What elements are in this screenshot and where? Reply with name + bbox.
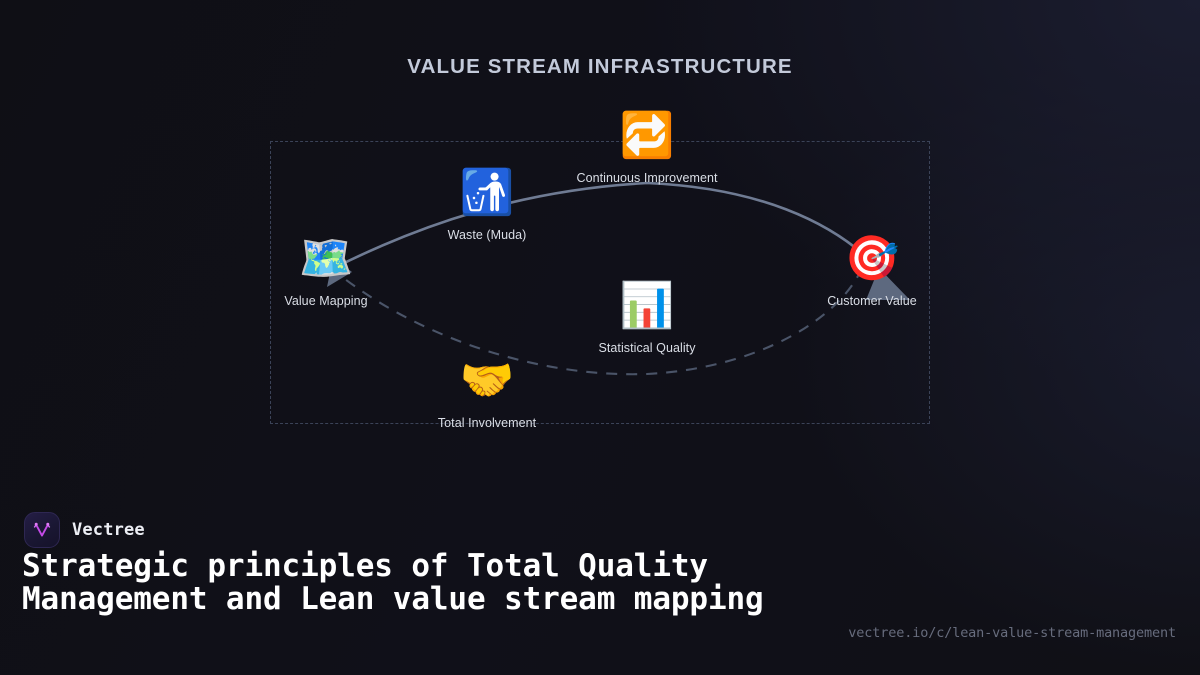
brand-name: Vectree xyxy=(72,520,145,540)
repeat-arrows-icon: 🔁 xyxy=(572,114,722,162)
node-label-customer-value: Customer Value xyxy=(797,294,947,308)
litter-bin-icon: 🚮 xyxy=(412,171,562,219)
brand-row[interactable]: Vectree xyxy=(24,512,145,548)
source-url[interactable]: vectree.io/c/lean-value-stream-managemen… xyxy=(848,625,1176,641)
footer-region: Vectree Strategic principles of Total Qu… xyxy=(0,480,1200,675)
bullseye-target-icon: 🎯 xyxy=(797,237,947,285)
handshake-icon: 🤝 xyxy=(412,359,562,407)
bar-chart-icon: 📊 xyxy=(572,284,722,332)
node-waste-muda[interactable]: 🚮 Waste (Muda) xyxy=(412,171,562,242)
diagram-title: VALUE STREAM INFRASTRUCTURE xyxy=(0,55,1200,79)
world-map-icon: 🗺️ xyxy=(251,237,401,285)
slide-canvas: VALUE STREAM INFRASTRUCTURE 🗺 xyxy=(0,0,1200,675)
node-total-involvement[interactable]: 🤝 Total Involvement xyxy=(412,359,562,430)
headline: Strategic principles of Total Quality Ma… xyxy=(22,550,852,616)
node-customer-value[interactable]: 🎯 Customer Value xyxy=(797,237,947,308)
node-label-total-involvement: Total Involvement xyxy=(412,416,562,430)
node-statistical-quality[interactable]: 📊 Statistical Quality xyxy=(572,284,722,355)
vectree-logo-icon xyxy=(24,512,60,548)
node-label-statistical-quality: Statistical Quality xyxy=(572,341,722,355)
node-label-value-mapping: Value Mapping xyxy=(251,294,401,308)
diagram-region: VALUE STREAM INFRASTRUCTURE 🗺 xyxy=(0,0,1200,480)
node-value-mapping[interactable]: 🗺️ Value Mapping xyxy=(251,237,401,308)
node-label-continuous-improvement: Continuous Improvement xyxy=(572,171,722,185)
node-continuous-improvement[interactable]: 🔁 Continuous Improvement xyxy=(572,114,722,185)
node-label-waste-muda: Waste (Muda) xyxy=(412,228,562,242)
